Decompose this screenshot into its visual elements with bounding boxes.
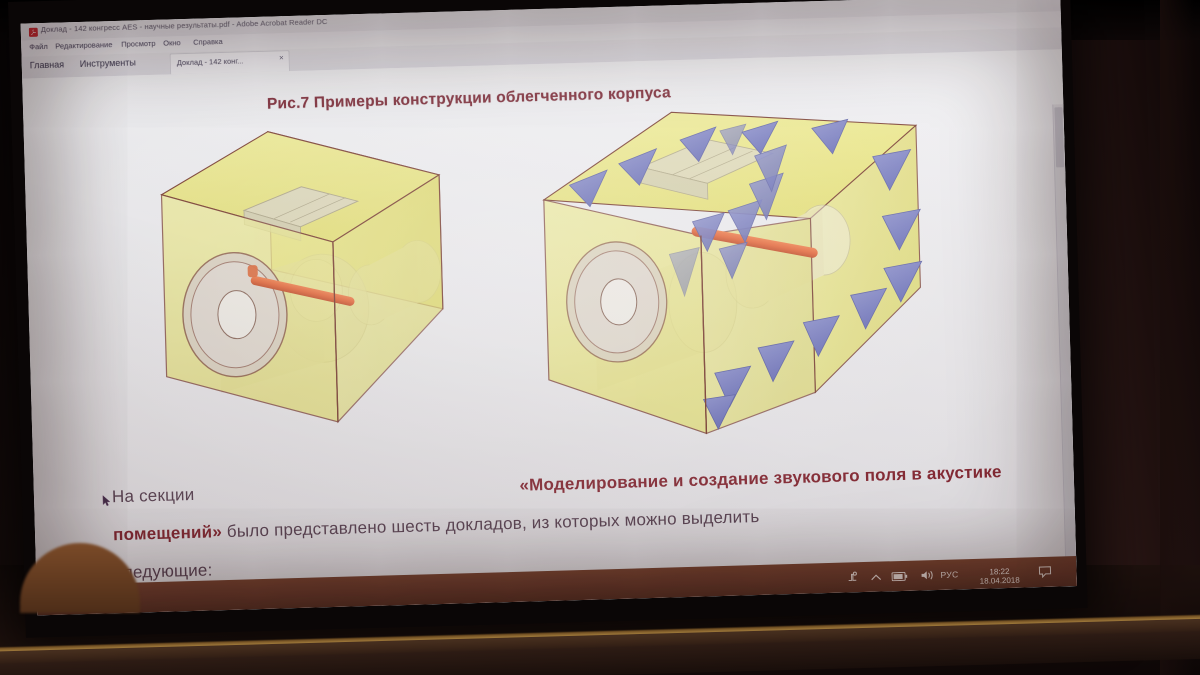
projection-screen-area: Доклад - 142 конгресс AES - научные резу… <box>8 0 1088 638</box>
projection-screen: Доклад - 142 конгресс AES - научные резу… <box>8 0 1088 638</box>
paragraph-line-2-highlight: помещений» <box>113 522 222 544</box>
document-tab-label: Доклад - 142 конг... <box>177 56 244 67</box>
taskbar-clock-date[interactable]: 18.04.2018 <box>972 575 1028 586</box>
paragraph-line-1-plain: На секции <box>112 476 195 516</box>
tab-home[interactable]: Главная <box>30 59 65 70</box>
tab-tools[interactable]: Инструменты <box>80 57 136 69</box>
network-icon[interactable] <box>846 571 858 583</box>
window-title-text: Доклад - 142 конгресс AES - научные резу… <box>41 17 328 34</box>
menu-item-help[interactable]: Справка <box>193 37 223 47</box>
right-post <box>1160 0 1194 675</box>
scrollbar-thumb[interactable] <box>1054 107 1064 167</box>
menu-item-window[interactable]: Окно <box>163 38 181 47</box>
volume-icon[interactable] <box>920 569 934 581</box>
vertical-scrollbar[interactable]: ▲ ▼ <box>1052 104 1077 615</box>
language-indicator[interactable]: РУС <box>940 569 958 580</box>
battery-icon[interactable] <box>891 572 907 581</box>
system-tray: РУС 18:22 18.04.2018 <box>836 556 1067 592</box>
loudspeaker-cabinet-plain <box>152 115 581 457</box>
action-center-icon[interactable] <box>1038 566 1051 578</box>
paragraph-line-2-plain: было представлено шесть докладов, из кот… <box>222 507 760 541</box>
dark-room-background: Доклад - 142 конгресс AES - научные резу… <box>0 0 1200 675</box>
acrobat-reader-window: Доклад - 142 конгресс AES - научные резу… <box>21 0 1077 615</box>
close-icon[interactable]: × <box>279 54 284 62</box>
chevron-up-icon[interactable] <box>871 574 882 582</box>
adobe-acrobat-icon <box>29 27 38 37</box>
menu-item-view[interactable]: Просмотр <box>121 39 156 49</box>
menu-item-edit[interactable]: Редактирование <box>55 40 112 51</box>
loudspeaker-cabinet-braced <box>519 96 969 453</box>
menu-item-file[interactable]: Файл <box>29 42 48 52</box>
mouse-cursor-icon <box>102 494 111 507</box>
pdf-document-canvas: Рис.7 Примеры конструкции облегченного к… <box>22 49 1077 615</box>
